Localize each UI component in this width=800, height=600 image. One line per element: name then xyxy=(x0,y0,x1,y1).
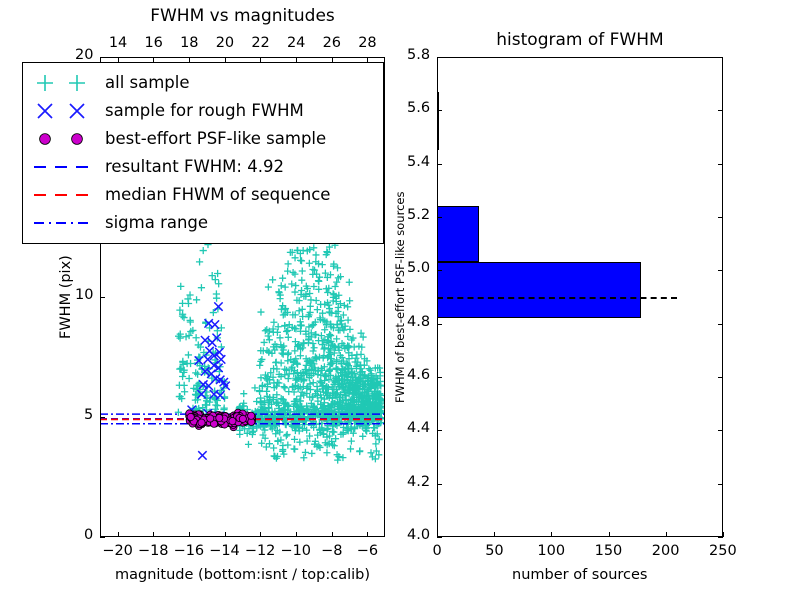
y-tick-label-right-panel: 4.2 xyxy=(407,474,430,490)
x-tick-bottom xyxy=(260,532,261,537)
histogram-bar[interactable] xyxy=(437,262,641,318)
legend-item-label: best-effort PSF-like sample xyxy=(105,129,326,148)
x-tick-label-bottom: −20 xyxy=(102,543,133,559)
legend-marker-cross-icon xyxy=(33,99,57,123)
y-tick-right-panel-mirror xyxy=(718,270,723,271)
y-tick-right-panel-mirror xyxy=(718,484,723,485)
right-plot-title: histogram of FWHM xyxy=(437,30,723,50)
y-tick-right-panel-mirror xyxy=(718,164,723,165)
left-plot-xlabel: magnitude (bottom:isnt / top:calib) xyxy=(115,567,370,583)
legend-item-label: all sample xyxy=(105,73,190,92)
x-tick-right-panel xyxy=(551,532,552,537)
legend-item-label: sample for rough FWHM xyxy=(105,101,304,120)
x-tick-label-top: 20 xyxy=(216,35,234,51)
x-tick-label-top: 26 xyxy=(323,35,341,51)
y-tick-label-left: 20 xyxy=(75,47,93,63)
x-tick-label-bottom: −18 xyxy=(138,543,169,559)
right-median-line xyxy=(437,297,677,299)
y-tick-right-panel-mirror xyxy=(718,57,723,58)
x-tick-bottom xyxy=(225,532,226,537)
x-tick-right-panel xyxy=(609,532,610,537)
x-tick-label-top: 28 xyxy=(358,35,376,51)
y-tick-label-right-panel: 4.0 xyxy=(407,527,430,543)
legend-marker-circle-icon xyxy=(65,127,89,151)
y-tick-right-panel xyxy=(437,57,442,58)
y-tick-label-left: 0 xyxy=(84,527,93,543)
y-tick-label-right-panel: 5.0 xyxy=(407,260,430,276)
y-tick-right-panel-mirror xyxy=(718,110,723,111)
x-tick-label-bottom: −16 xyxy=(174,543,205,559)
legend-item-2[interactable]: best-effort PSF-like sample xyxy=(23,127,383,154)
y-tick-right-panel xyxy=(437,270,442,271)
y-tick-label-right-panel: 5.4 xyxy=(407,154,430,170)
x-tick-label-top: 22 xyxy=(251,35,269,51)
x-tick-bottom xyxy=(367,532,368,537)
x-tick-label-top: 18 xyxy=(180,35,198,51)
y-tick-right-panel xyxy=(437,537,442,538)
x-tick-label-bottom: −6 xyxy=(357,543,378,559)
x-tick-label-right-panel: 250 xyxy=(709,543,737,559)
y-tick-label-right-panel: 4.6 xyxy=(407,367,430,383)
x-tick-bottom xyxy=(189,532,190,537)
x-tick-bottom xyxy=(296,532,297,537)
x-tick-label-right-panel: 200 xyxy=(652,543,680,559)
x-tick-label-bottom: −12 xyxy=(245,543,276,559)
x-tick-bottom xyxy=(332,532,333,537)
y-tick-right-panel-mirror xyxy=(718,324,723,325)
histogram-bar[interactable] xyxy=(437,206,479,262)
legend-item-label: median FHWM of sequence xyxy=(105,185,330,204)
y-tick-label-right-panel: 4.8 xyxy=(407,314,430,330)
legend-marker-dashed-line-icon xyxy=(31,155,95,179)
right-plot-ylabel: FWHM of best-effort PSF-like sources xyxy=(393,191,407,402)
x-tick-bottom xyxy=(153,532,154,537)
legend-item-label: sigma range xyxy=(105,213,208,232)
x-tick-label-right-panel: 150 xyxy=(595,543,623,559)
x-tick-label-bottom: −8 xyxy=(321,543,342,559)
x-tick-label-bottom: −10 xyxy=(280,543,311,559)
y-tick-label-right-panel: 4.4 xyxy=(407,420,430,436)
legend-item-3[interactable]: resultant FWHM: 4.92 xyxy=(23,155,383,182)
y-tick-right-panel xyxy=(437,377,442,378)
x-tick-right-panel xyxy=(494,532,495,537)
y-tick-label-right-panel: 5.8 xyxy=(407,47,430,63)
legend-marker-cross-icon xyxy=(65,99,89,123)
x-tick-right-panel xyxy=(666,532,667,537)
x-tick-label-top: 16 xyxy=(144,35,162,51)
y-tick-right-panel xyxy=(437,164,442,165)
y-tick-label-left: 5 xyxy=(84,407,93,423)
y-tick-left xyxy=(100,297,105,298)
legend-item-5[interactable]: sigma range xyxy=(23,211,383,238)
right-plot-xlabel: number of sources xyxy=(512,567,648,583)
y-tick-right-panel-mirror xyxy=(718,430,723,431)
legend-item-1[interactable]: sample for rough FWHM xyxy=(23,99,383,126)
y-tick-right-panel xyxy=(437,430,442,431)
x-tick-label-top: 24 xyxy=(287,35,305,51)
left-plot-ylabel: FWHM (pix) xyxy=(58,255,74,339)
x-tick-label-top: 14 xyxy=(109,35,127,51)
legend-marker-dashdot-line-icon xyxy=(31,211,95,235)
y-tick-right-panel-mirror xyxy=(718,377,723,378)
y-tick-right-panel-mirror xyxy=(718,537,723,538)
figure-canvas: FWHM vs magnitudes−20−18−16−14−12−10−8−6… xyxy=(0,0,800,600)
y-tick-left xyxy=(100,57,105,58)
y-tick-right-panel xyxy=(437,484,442,485)
x-tick-label-right-panel: 0 xyxy=(433,543,442,559)
x-tick-label-bottom: −14 xyxy=(209,543,240,559)
x-tick-label-right-panel: 50 xyxy=(485,543,503,559)
legend-item-label: resultant FWHM: 4.92 xyxy=(105,157,284,176)
legend-box: all samplesample for rough FWHMbest-effo… xyxy=(22,62,384,244)
x-tick-bottom xyxy=(118,532,119,537)
legend-item-0[interactable]: all sample xyxy=(23,71,383,98)
y-tick-right-panel xyxy=(437,217,442,218)
x-tick-label-right-panel: 100 xyxy=(537,543,565,559)
y-tick-label-right-panel: 5.2 xyxy=(407,207,430,223)
y-tick-right-panel-mirror xyxy=(718,217,723,218)
y-tick-left xyxy=(100,537,105,538)
y-tick-label-left: 10 xyxy=(75,287,93,303)
y-tick-right-panel xyxy=(437,324,442,325)
legend-item-4[interactable]: median FHWM of sequence xyxy=(23,183,383,210)
y-tick-label-right-panel: 5.6 xyxy=(407,100,430,116)
legend-marker-plus-icon xyxy=(65,71,89,95)
legend-marker-dashed-line-icon xyxy=(31,183,95,207)
y-tick-left xyxy=(100,417,105,418)
y-tick-right-panel xyxy=(437,110,442,111)
legend-marker-circle-icon xyxy=(33,127,57,151)
histogram-bar[interactable] xyxy=(437,92,439,151)
x-tick-right-panel xyxy=(723,532,724,537)
legend-marker-plus-icon xyxy=(33,71,57,95)
